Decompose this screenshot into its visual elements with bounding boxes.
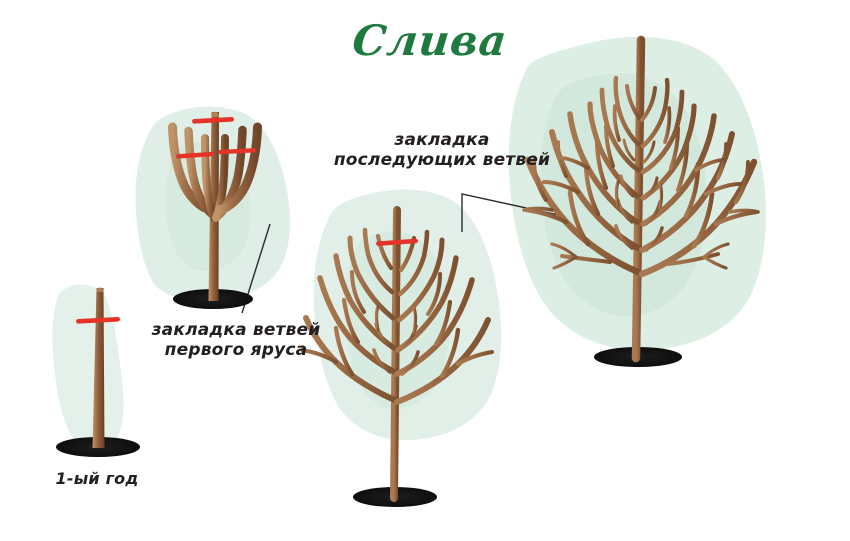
label-year-one: 1-ый год: [42, 470, 152, 489]
branch-4-twig-r3: [660, 184, 662, 208]
branch-4-l1d: [524, 209, 552, 211]
blob-stage-1: [53, 285, 124, 449]
trunk-3: [394, 210, 397, 498]
illustration-canvas: Слива закладка последующих ветвей заклад…: [0, 0, 850, 541]
branch-4-twig-l3: [617, 182, 619, 206]
branch-3-twig-r3: [414, 308, 416, 332]
branch-3-twig-l3: [377, 306, 379, 330]
plum-pruning-diagram: [0, 0, 850, 541]
page-title: Слива: [337, 16, 522, 65]
label-subsequent-branches: закладка последующих ветвей: [332, 130, 552, 170]
label-first-tier-branches: закладка ветвей первого яруса: [146, 320, 326, 360]
branch-4-r1d: [730, 211, 758, 213]
trunk-4: [636, 40, 641, 358]
